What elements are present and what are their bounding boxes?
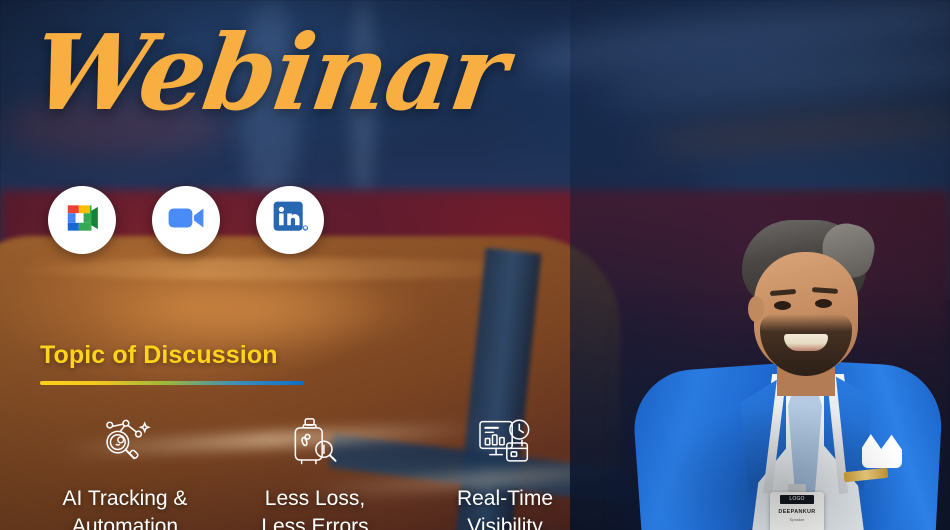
feature-item-ai-tracking: AI Tracking & Automation (30, 414, 220, 530)
zoom-icon (167, 204, 205, 237)
social-icon-google-meet[interactable] (48, 186, 116, 254)
webinar-poster: Webinar (0, 0, 950, 530)
feature-row: AI Tracking & Automation Less Loss, Less (30, 414, 630, 530)
eye-left (774, 301, 791, 310)
ai-magnifier-network-icon (98, 414, 152, 472)
topic-underline (40, 381, 304, 385)
feature-label: Less Loss, Less Errors (261, 485, 368, 530)
page-title: Webinar (26, 18, 512, 127)
speaker-badge: LOGO DEEPANKUR Speaker (770, 492, 824, 530)
social-icon-row: R (48, 186, 324, 254)
badge-subtitle: Speaker (790, 517, 805, 522)
google-meet-icon (63, 202, 101, 239)
linkedin-icon: R (270, 198, 310, 243)
suitcase-magnifier-icon (290, 414, 340, 472)
ear (748, 296, 764, 322)
feature-label: AI Tracking & Automation (63, 485, 188, 530)
social-icon-linkedin[interactable]: R (256, 186, 324, 254)
dashboard-clock-calendar-icon (477, 414, 533, 472)
svg-text:R: R (304, 226, 307, 230)
mouth (784, 334, 828, 351)
feature-item-less-loss: Less Loss, Less Errors (220, 414, 410, 530)
badge-logo: LOGO (780, 495, 814, 504)
social-icon-zoom[interactable] (152, 186, 220, 254)
feature-item-real-time: Real-Time Visibility (410, 414, 600, 530)
speaker-photo: LOGO DEEPANKUR Speaker (612, 218, 950, 530)
feature-label: Real-Time Visibility (457, 485, 553, 530)
badge-name: DEEPANKUR (778, 509, 815, 515)
topic-section: Topic of Discussion (40, 341, 304, 385)
topic-heading: Topic of Discussion (40, 341, 304, 370)
eye-right (815, 299, 832, 308)
